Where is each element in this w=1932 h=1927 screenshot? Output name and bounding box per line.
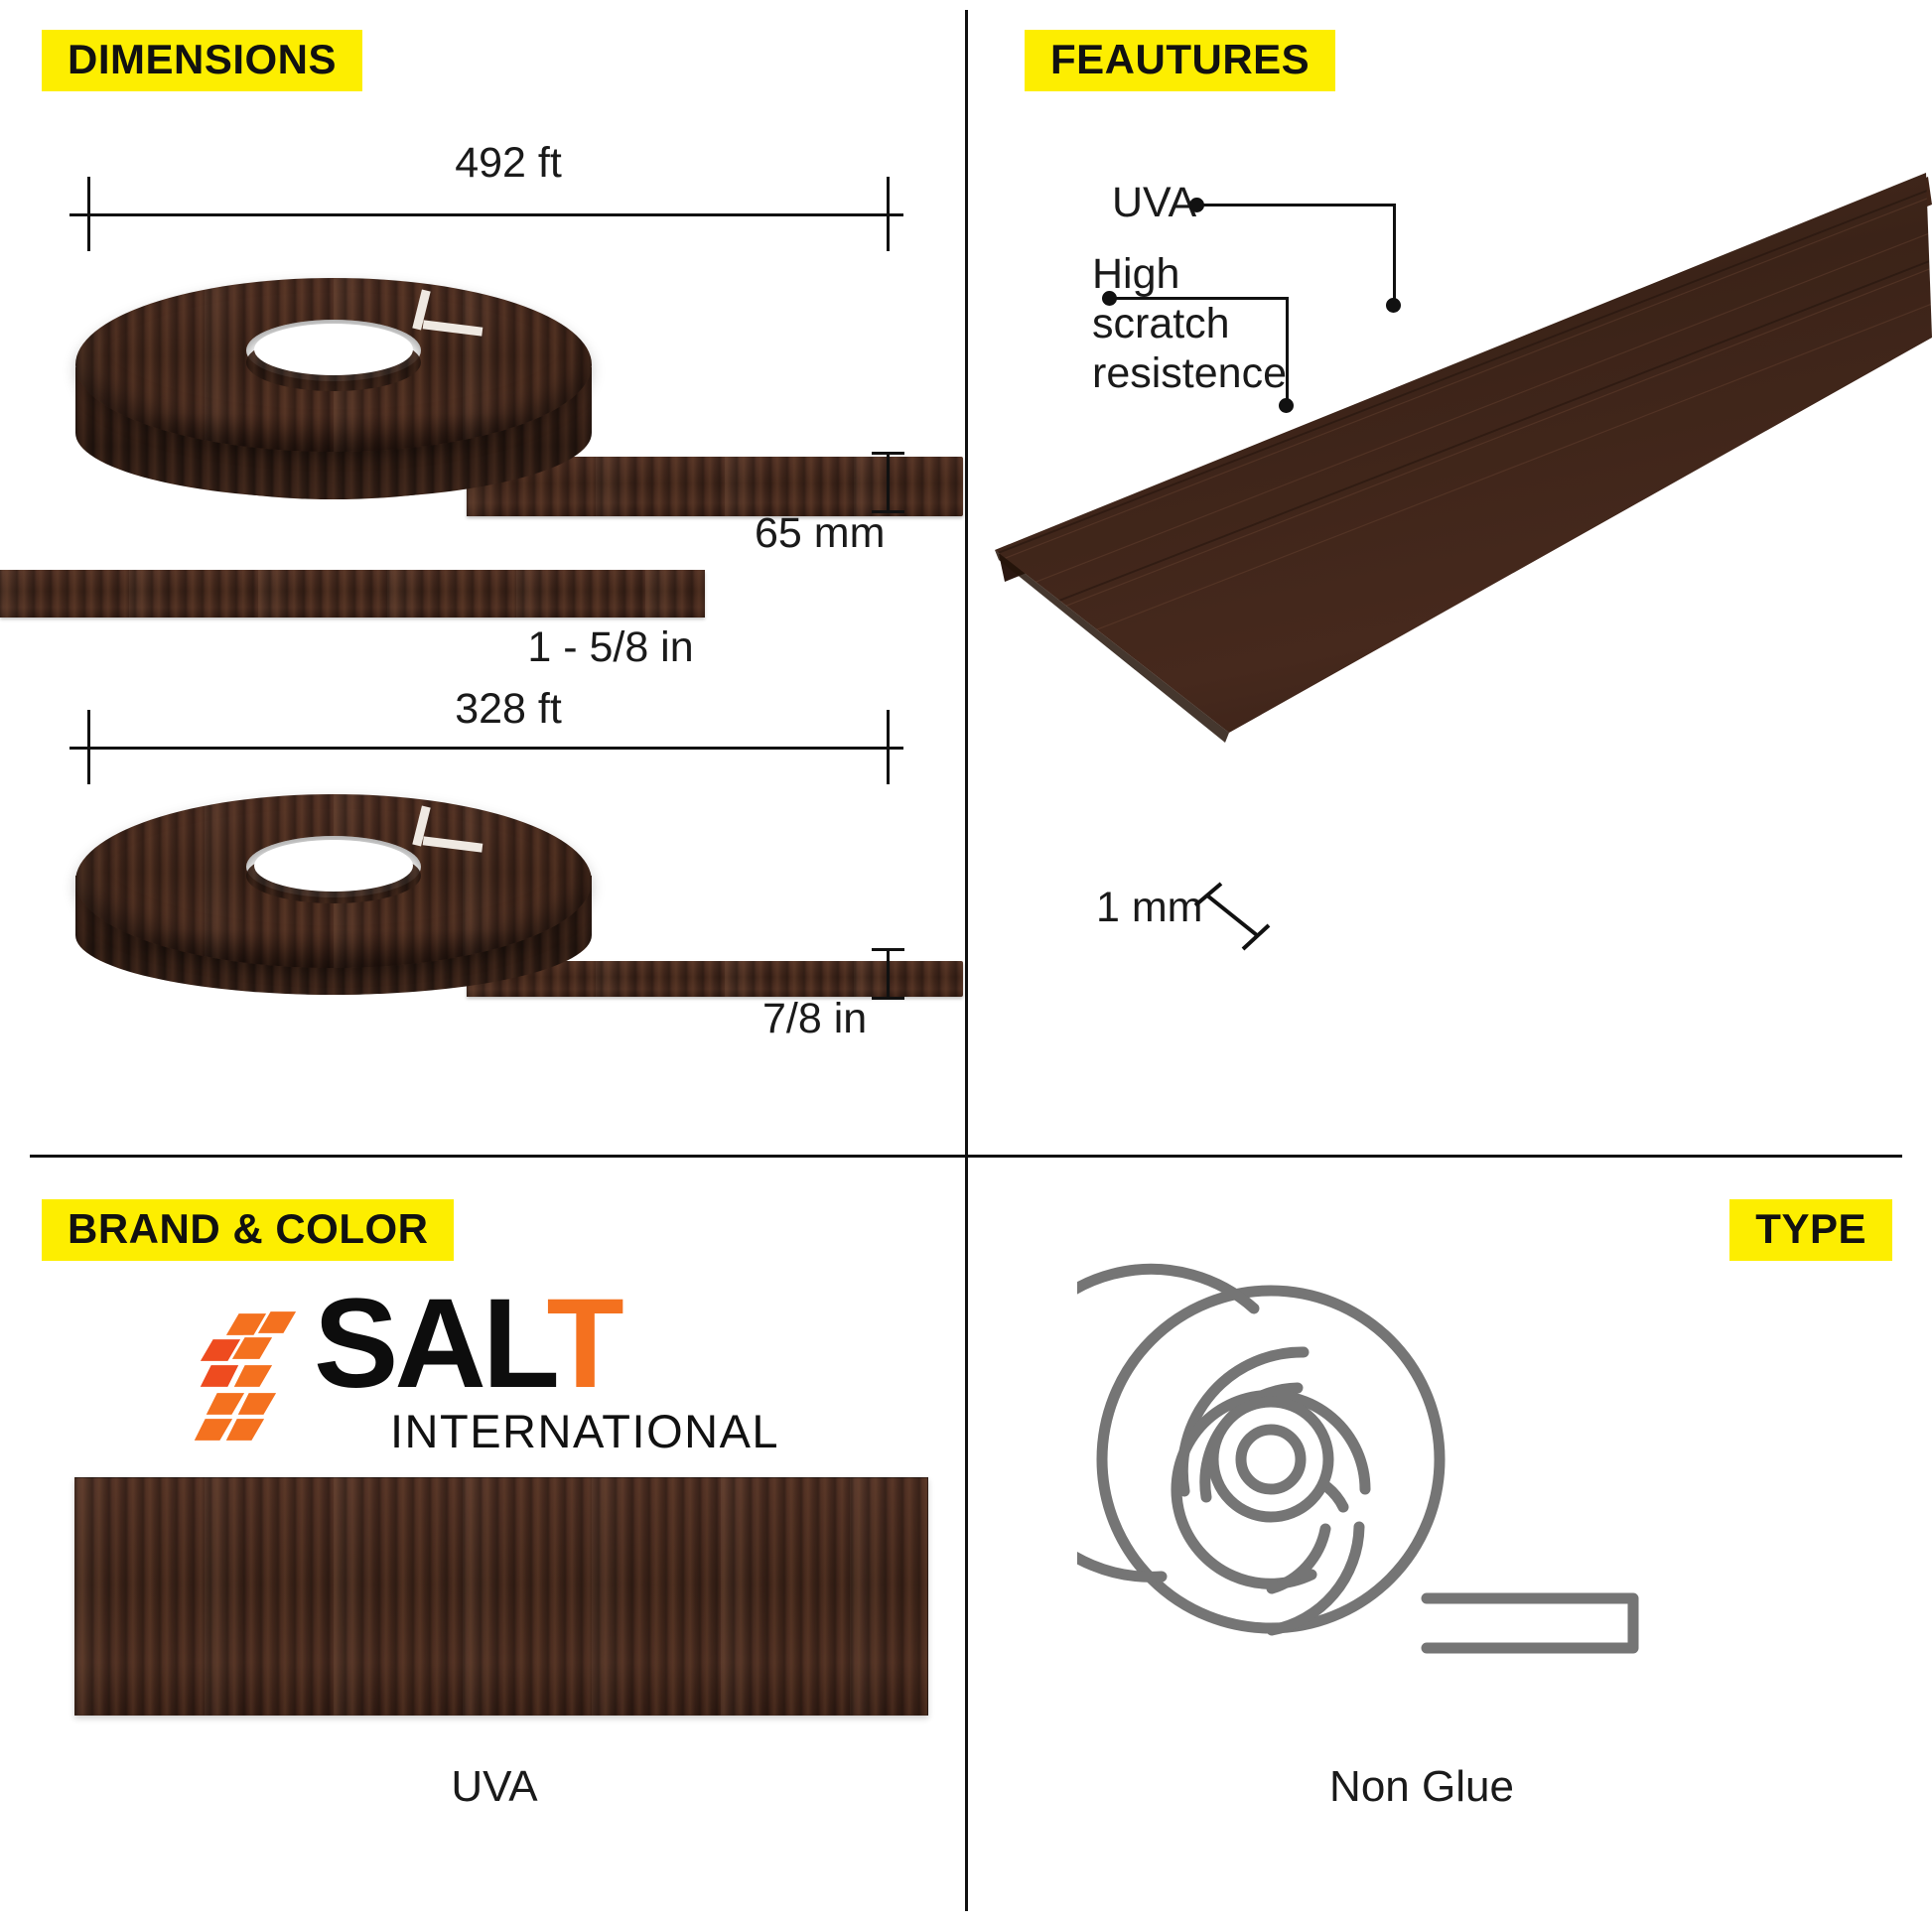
roll-b-caliper-cap-top [872, 948, 904, 951]
roll-b-thickness-caliper [887, 948, 890, 1000]
edge-banding-roll-b [69, 784, 606, 1032]
feature-callout-scratch-target-dot [1279, 398, 1294, 413]
roll-type-icon [1077, 1261, 1713, 1658]
salt-logo-mark-icon [187, 1279, 326, 1445]
roll-a-tick-right [887, 177, 890, 251]
roll-a-caliper-cap-top [872, 452, 904, 455]
roll-b-caliper-cap-bottom [872, 997, 904, 1000]
roll-b-length-label: 328 ft [455, 685, 562, 735]
roll-b-tick-right [887, 710, 890, 784]
salt-logo-wordmark-dark: SAL [314, 1273, 547, 1415]
section-header-dimensions: DIMENSIONS [42, 30, 362, 91]
section-header-type: TYPE [1729, 1199, 1892, 1261]
section-header-brand-color: BRAND & COLOR [42, 1199, 454, 1261]
roll-a-thickness-caliper [887, 452, 890, 513]
feature-thickness-caliper [1191, 864, 1320, 973]
flat-strip-imperial-a [0, 570, 705, 618]
brand-logo: SALT INTERNATIONAL [187, 1279, 782, 1438]
color-swatch-uva [74, 1477, 928, 1716]
divider-vertical-bottom [965, 1155, 968, 1911]
feature-callout-uva-leader-v [1393, 204, 1396, 308]
roll-b-width-imperial-label: 7/8 in [762, 995, 867, 1044]
salt-logo-tagline: INTERNATIONAL [390, 1404, 779, 1458]
roll-a-length-label: 492 ft [455, 139, 562, 189]
feature-callout-uva-label: UVA [1112, 179, 1196, 228]
roll-b-tick-left [87, 710, 90, 784]
roll-a-dimension-line [69, 213, 903, 216]
infographic-grid: DIMENSIONS FEAUTURES BRAND & COLOR TYPE … [0, 0, 1932, 1927]
edge-banding-roll-a [69, 268, 606, 516]
section-header-features: FEAUTURES [1025, 30, 1335, 91]
feature-thickness-label: 1 mm [1096, 884, 1203, 933]
feature-callout-uva-leader-h [1201, 204, 1395, 206]
type-caption: Non Glue [1329, 1762, 1514, 1812]
roll-a-width-metric-label: 65 mm [755, 509, 885, 559]
feature-callout-scratch-leader-h [1114, 297, 1288, 300]
color-swatch-caption: UVA [451, 1762, 537, 1812]
feature-callout-uva-target-dot [1386, 298, 1401, 313]
roll-a-hole-opening [254, 324, 413, 375]
roll-a-width-imperial-label: 1 - 5/8 in [527, 623, 693, 673]
feature-callout-scratch-leader-v [1286, 297, 1289, 408]
roll-a-tick-left [87, 177, 90, 251]
roll-b-hole-opening [254, 840, 413, 892]
roll-b-dimension-line [69, 747, 903, 750]
salt-logo-wordmark-accent: T [547, 1273, 621, 1415]
